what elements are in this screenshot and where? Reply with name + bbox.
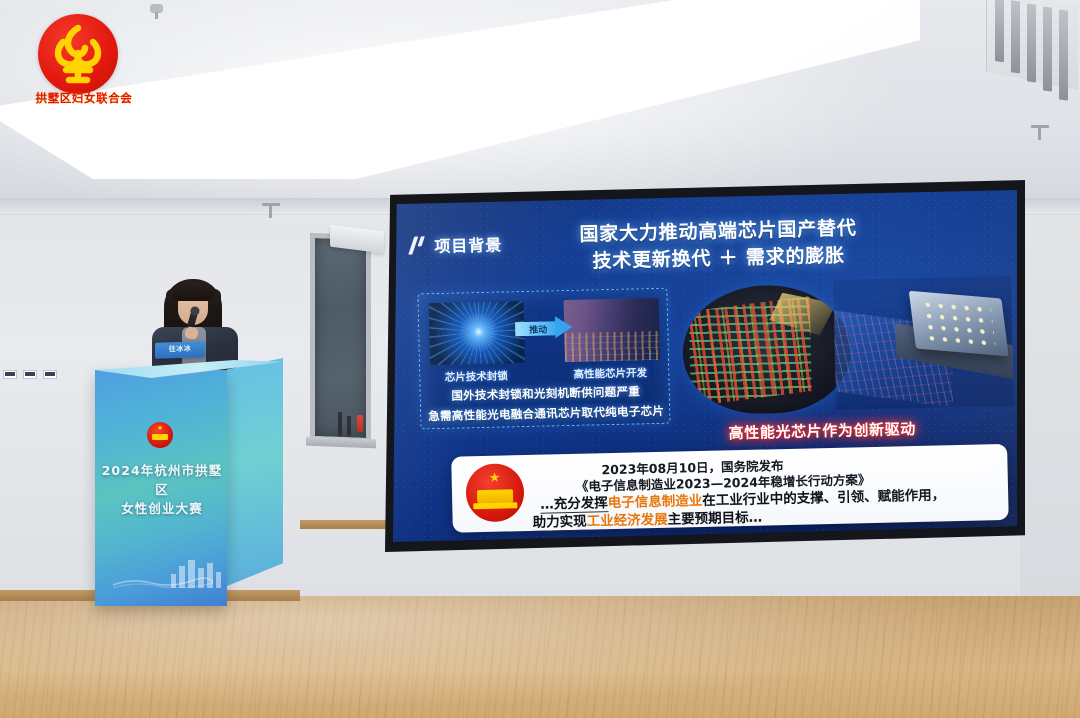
baseboard-mid: [300, 520, 390, 529]
optical-chip-module-photo: [833, 276, 1014, 410]
section-title: 项目背景: [434, 232, 503, 258]
red-object-icon: [357, 415, 363, 432]
podium-side: [227, 358, 283, 586]
silicon-wafer-photo: [681, 284, 852, 416]
podium-front: ★ 2024年杭州市拱墅区 女性创业大赛: [95, 370, 227, 606]
logo-glyph-icon: [38, 14, 118, 94]
sprinkler-icon: [150, 4, 163, 13]
venue-logo-caption: 拱墅区妇女联合会: [16, 90, 152, 106]
slash-accent-icon: [408, 235, 428, 255]
high-performance-chip-fab-photo: [564, 298, 660, 362]
venue-logo: 拱墅区妇女联合会: [14, 14, 154, 110]
wall-sensor-icon: [1031, 125, 1049, 128]
led-display-screen[interactable]: 项目背景 国家大力推动高端芯片国产替代 技术更新换代 ＋ 需求的膨胀 推动 芯片…: [393, 190, 1017, 542]
caption-left: 芯片技术封锁: [426, 368, 526, 385]
light-switch-panel-icon[interactable]: [3, 370, 59, 382]
marker-pen-icon: [347, 416, 351, 436]
podium-title-line-2: 女性创业大赛: [99, 500, 225, 519]
slide-headline: 国家大力推动高端芯片国产替代 技术更新换代 ＋ 需求的膨胀: [528, 214, 909, 277]
push-arrow-icon: 推动: [515, 317, 573, 340]
ceiling-sensor-icon: [262, 203, 280, 206]
national-emblem-icon: ★: [147, 422, 173, 448]
national-emblem-icon: ★: [465, 463, 524, 522]
quote-line-4-a: 助力实现: [533, 514, 587, 532]
podium-title-line-1: 2024年杭州市拱墅区: [99, 462, 225, 500]
chip-technology-blockade-photo: [429, 301, 525, 365]
wave-decoration-icon: [113, 576, 213, 588]
floor-reflection: [0, 596, 1080, 718]
hair-fringe: [173, 281, 213, 301]
policy-quote-card: ★ 2023年08月10日，国务院发布 《电子信息制造业2023—2024年稳增…: [451, 444, 1009, 533]
caption-right: 高性能芯片开发: [560, 365, 660, 382]
arrow-label: 推动: [519, 322, 557, 336]
tech-bold-line-1: 国外技术封锁和光刻机断供问题严重: [427, 383, 665, 404]
tech-bold-line-2: 急需高性能光电融合通讯芯片取代纯电子芯片: [427, 403, 665, 424]
speaker-name-badge: 往冰冰: [155, 341, 205, 359]
podium-title: 2024年杭州市拱墅区 女性创业大赛: [99, 462, 225, 518]
quote-line-4-b: 主要预期目标…: [667, 510, 762, 528]
podium: ★ 2024年杭州市拱墅区 女性创业大赛: [95, 358, 283, 606]
presentation-slide: 项目背景 国家大力推动高端芯片国产替代 技术更新换代 ＋ 需求的膨胀 推动 芯片…: [393, 190, 1017, 542]
tech-background-panel: 推动 芯片技术封锁 高性能芯片开发 国外技术封锁和光刻机断供问题严重 急需高性能…: [417, 288, 670, 430]
slide-section-tag: 项目背景: [408, 232, 503, 258]
marker-pen-icon: [338, 412, 342, 436]
presentation-room-photo: 拱墅区妇女联合会 项目背景 国家大力推动高端芯片国产替代 技术更新换代 ＋ 需求…: [0, 0, 1080, 718]
quote-line-4: 助力实现工业经济发展主要预期目标…: [532, 506, 762, 531]
red-highlight-banner: 高性能光芯片作为创新驱动: [728, 418, 916, 443]
speaker-name-text: 往冰冰: [155, 343, 205, 355]
right-wall: [1020, 150, 1080, 610]
quote-line-4-highlight: 工业经济发展: [587, 512, 668, 530]
